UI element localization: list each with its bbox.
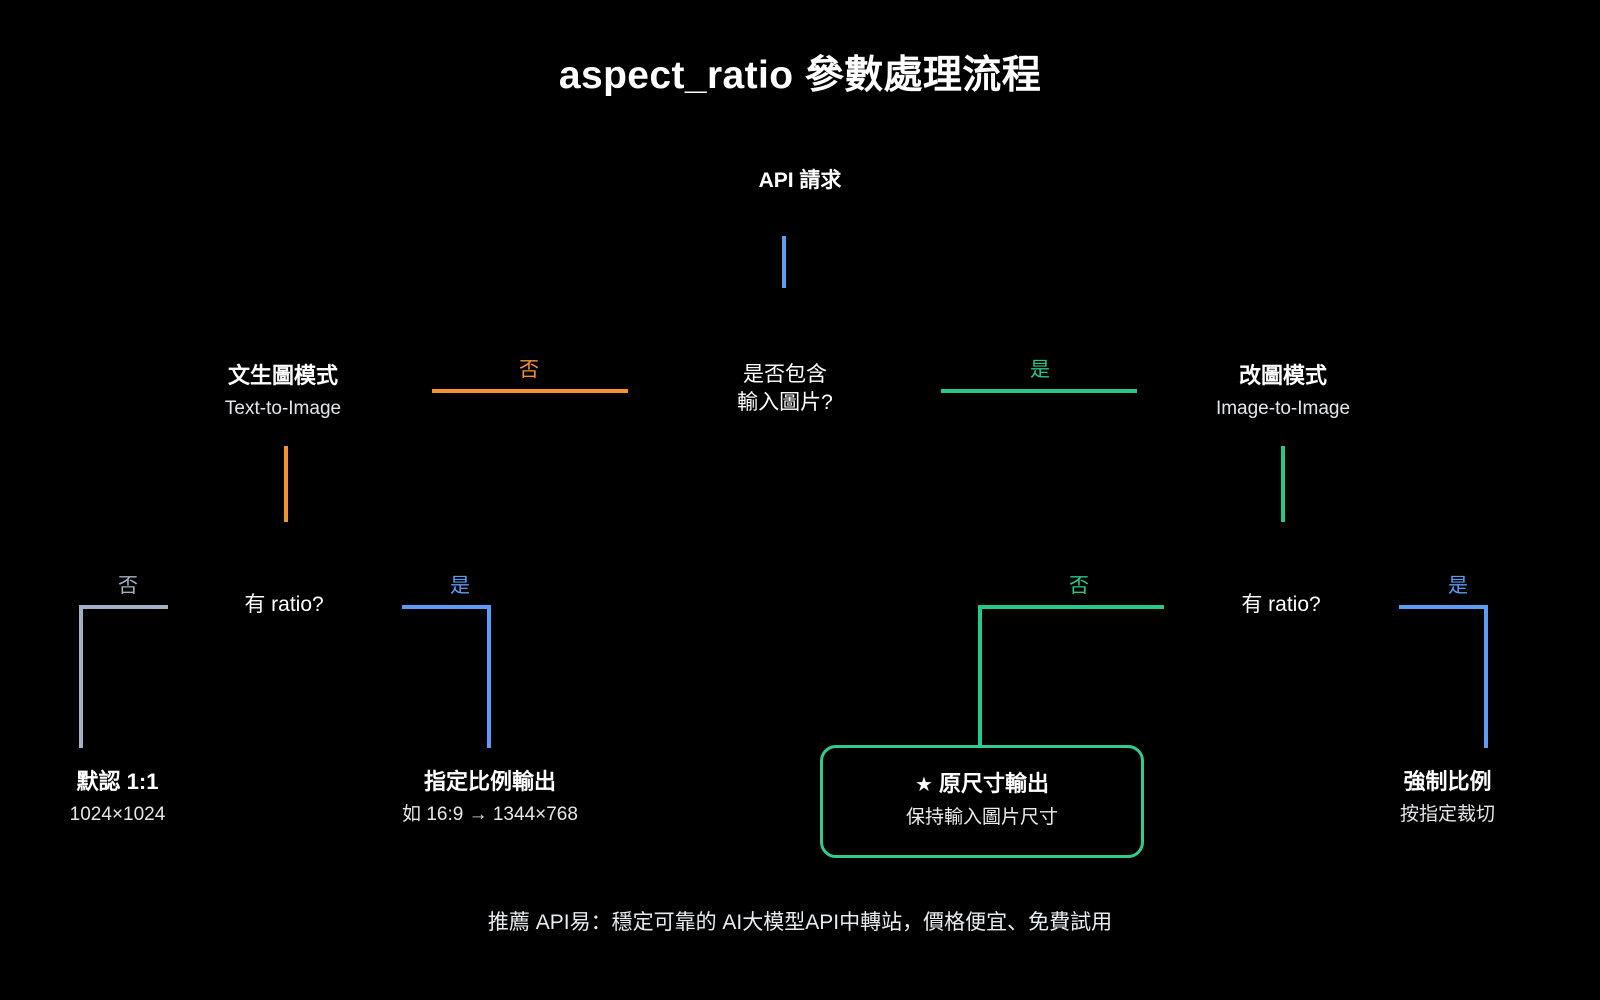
edge-label-no-text-to-image: 否 (489, 353, 569, 382)
flowchart-canvas: aspect_ratio 參數處理流程 API 請求 是否包含 輸入圖片? 否 … (0, 0, 1600, 1000)
node-t2i-sublabel: Text-to-Image (133, 397, 433, 422)
edge-root-to-decision (782, 236, 786, 288)
node-forced-ratio-label: 強制比例 (1330, 768, 1565, 796)
footer-note: 推薦 API易：穩定可靠的 AI大模型API中轉站，價格便宜、免費試用 (0, 906, 1600, 936)
edge-left-yes-vertical (487, 605, 491, 748)
node-default-square: 默認 1:1 1024×1024 (0, 768, 235, 827)
node-text-to-image-mode: 文生圖模式 Text-to-Image (133, 362, 433, 421)
edge-decision-to-t2i (432, 389, 628, 393)
node-forced-ratio: 強制比例 按指定裁切 (1330, 768, 1565, 827)
decision-line-1: 是否包含 (640, 362, 930, 388)
edge-label-right-no: 否 (1039, 569, 1119, 598)
node-image-to-image-mode: 改圖模式 Image-to-Image (1133, 362, 1433, 421)
node-t2i-label: 文生圖模式 (133, 362, 433, 390)
node-specified-ratio: 指定比例輸出 如 16:9 → 1344×768 (340, 768, 640, 827)
edge-i2i-to-ratio-question (1281, 446, 1285, 522)
node-decision-has-input-image: 是否包含 輸入圖片? (640, 362, 930, 419)
node-original-size-text: 原尺寸輸出 (939, 771, 1049, 796)
node-original-size-highlighted: ★原尺寸輸出 保持輸入圖片尺寸 (820, 745, 1144, 858)
edge-label-yes-image-to-image: 是 (1000, 353, 1080, 382)
edge-left-no-horizontal (79, 605, 168, 609)
page-title: aspect_ratio 參數處理流程 (0, 44, 1600, 100)
edge-right-no-vertical (978, 605, 982, 748)
node-ratio-question-left: 有 ratio? (194, 588, 374, 618)
edge-left-yes-horizontal (402, 605, 491, 609)
node-specified-ratio-label: 指定比例輸出 (340, 768, 640, 796)
node-i2i-sublabel: Image-to-Image (1133, 397, 1433, 422)
node-i2i-label: 改圖模式 (1133, 362, 1433, 390)
node-ratio-question-right: 有 ratio? (1191, 588, 1371, 618)
node-forced-ratio-sublabel: 按指定裁切 (1330, 803, 1565, 828)
edge-right-yes-vertical (1484, 605, 1488, 748)
edge-label-right-yes: 是 (1418, 569, 1498, 598)
node-api-request-label: API 請求 (0, 168, 1600, 194)
edge-label-left-yes: 是 (420, 569, 500, 598)
edge-left-no-vertical (79, 605, 83, 748)
edge-label-left-no: 否 (88, 569, 168, 598)
decision-line-2: 輸入圖片? (640, 388, 930, 418)
node-default-square-label: 默認 1:1 (0, 768, 235, 796)
star-icon: ★ (915, 774, 933, 796)
node-default-square-sublabel: 1024×1024 (0, 803, 235, 828)
edge-right-no-horizontal (978, 605, 1164, 609)
node-original-size-label: ★原尺寸輸出 (863, 770, 1101, 798)
node-specified-ratio-sublabel: 如 16:9 → 1344×768 (340, 803, 640, 828)
edge-right-yes-horizontal (1399, 605, 1488, 609)
edge-t2i-to-ratio-question (284, 446, 288, 522)
node-api-request: API 請求 (0, 168, 1600, 194)
edge-decision-to-i2i (941, 389, 1137, 393)
node-original-size-sublabel: 保持輸入圖片尺寸 (863, 806, 1101, 831)
